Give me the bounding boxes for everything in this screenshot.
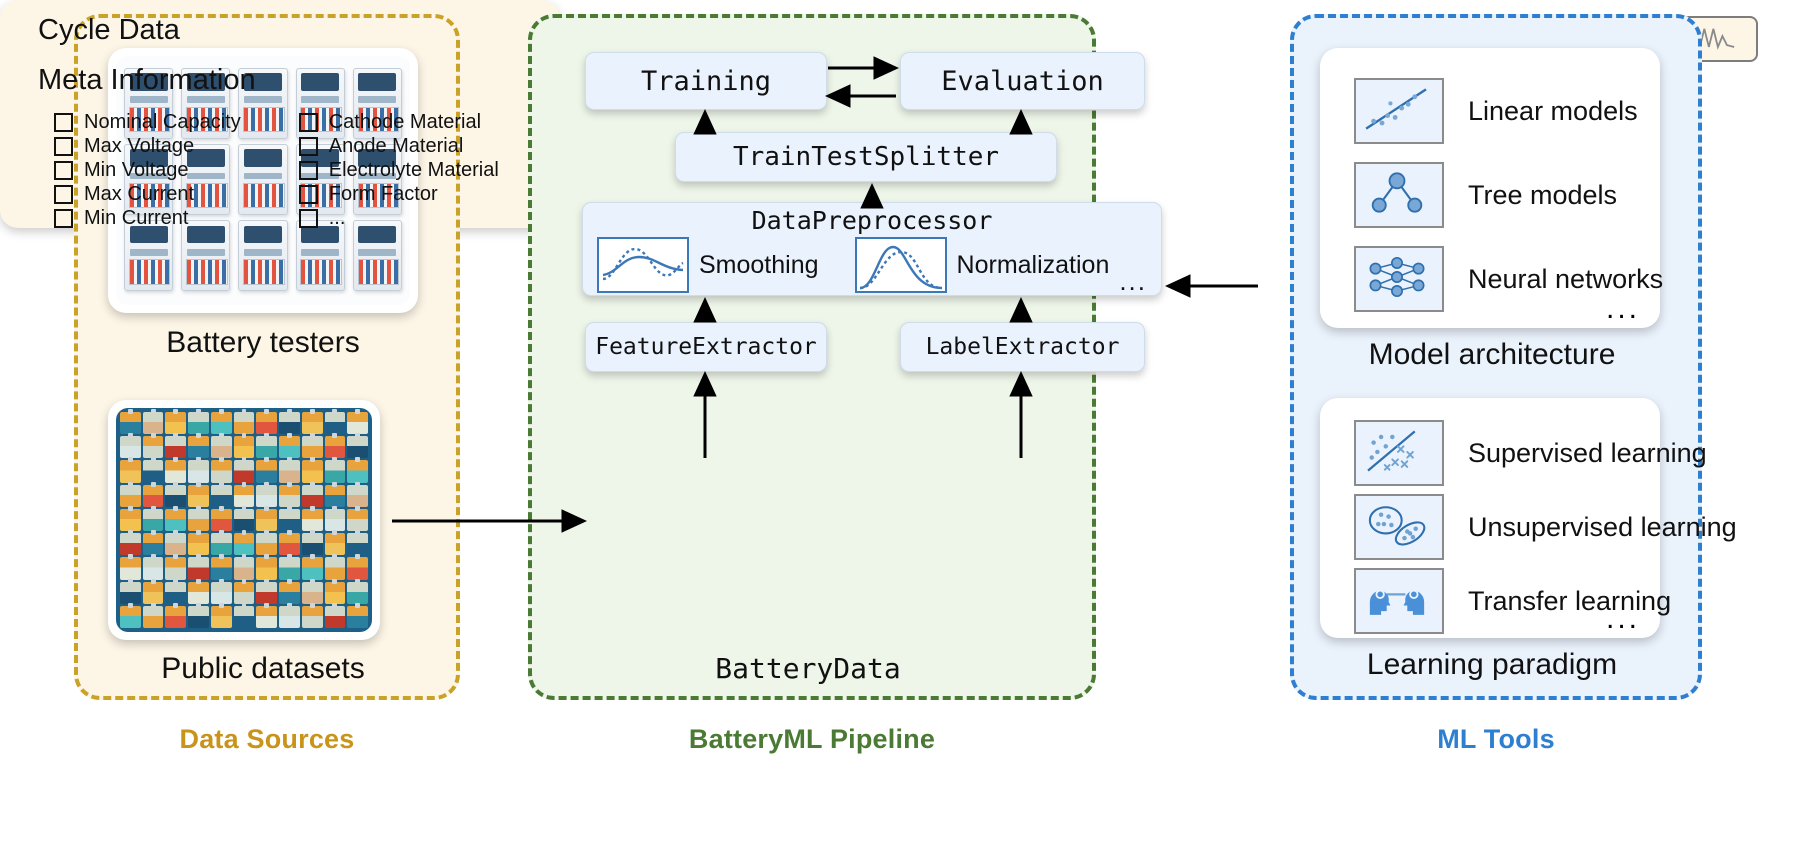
- box-label-extractor[interactable]: LabelExtractor: [900, 322, 1145, 372]
- battery-cell-icon: [279, 485, 300, 507]
- meta-list-left: Nominal CapacityMax VoltageMin VoltageMa…: [54, 112, 241, 229]
- panel-caption-data-sources: Data Sources: [78, 724, 456, 755]
- supervised-scatter-icon: [1354, 420, 1444, 486]
- battery-cell-icon: [279, 436, 300, 458]
- ml-item-label: Supervised learning: [1468, 438, 1707, 469]
- battery-cell-icon: [211, 412, 232, 434]
- battery-cell-icon: [143, 557, 164, 579]
- battery-cell-icon: [347, 436, 368, 458]
- checkbox-square-icon[interactable]: [299, 113, 318, 132]
- battery-cell-icon: [188, 485, 209, 507]
- battery-cell-icon: [279, 412, 300, 434]
- battery-cell-icon: [188, 436, 209, 458]
- card-caption-model-architecture: Model architecture: [1290, 338, 1694, 372]
- battery-cell-icon: [256, 557, 277, 579]
- battery-cell-icon: [234, 509, 255, 531]
- meta-checkbox-label: Max Voltage: [84, 136, 194, 157]
- battery-cell-icon: [188, 582, 209, 604]
- meta-checkbox-label: Min Current: [84, 208, 188, 229]
- battery-cell-icon: [234, 606, 255, 628]
- battery-cell-icon: [165, 582, 186, 604]
- linear-regression-scatter-icon: [1354, 78, 1444, 144]
- battery-cell-icon: [347, 509, 368, 531]
- battery-cell-icon: [256, 582, 277, 604]
- learning-paradigm-more-ellipsis: ...: [1606, 602, 1640, 636]
- battery-cell-icon: [120, 557, 141, 579]
- battery-cell-icon: [256, 509, 277, 531]
- battery-cell-icon: [302, 557, 323, 579]
- battery-cell-icon: [234, 460, 255, 482]
- battery-cell-icon: [234, 485, 255, 507]
- meta-checkbox-label: Electrolyte Material: [329, 160, 499, 181]
- battery-cell-icon: [302, 436, 323, 458]
- cycle-data-title: Cycle Data: [38, 14, 180, 47]
- battery-cell-icon: [120, 436, 141, 458]
- battery-cell-icon: [256, 412, 277, 434]
- ml-item-label: Transfer learning: [1468, 586, 1671, 617]
- battery-cell-icon: [347, 582, 368, 604]
- battery-cell-icon: [120, 533, 141, 555]
- battery-cell-icon: [165, 557, 186, 579]
- battery-cell-icon: [325, 412, 346, 434]
- meta-checkbox-label: Form Factor: [329, 184, 438, 205]
- battery-cell-icon: [120, 509, 141, 531]
- battery-cell-icon: [347, 557, 368, 579]
- battery-cell-icon: [143, 582, 164, 604]
- checkbox-square-icon[interactable]: [299, 137, 318, 156]
- battery-cell-icon: [279, 582, 300, 604]
- checkbox-square-icon[interactable]: [54, 137, 73, 156]
- battery-cell-icon: [211, 485, 232, 507]
- battery-cell-icon: [234, 557, 255, 579]
- checkbox-square-icon[interactable]: [299, 161, 318, 180]
- checkbox-square-icon[interactable]: [54, 113, 73, 132]
- checkbox-square-icon[interactable]: [54, 161, 73, 180]
- checkbox-square-icon[interactable]: [54, 185, 73, 204]
- battery-cell-icon: [211, 533, 232, 555]
- battery-cell-icon: [325, 485, 346, 507]
- card-model-architecture[interactable]: Linear models Tree models: [1320, 48, 1660, 328]
- battery-cell-icon: [120, 582, 141, 604]
- card-caption-battery-data: BatteryData: [528, 652, 1088, 685]
- meta-checkbox-item[interactable]: Min Current: [54, 208, 241, 229]
- ml-item-label: Neural networks: [1468, 264, 1663, 295]
- battery-cell-icon: [188, 412, 209, 434]
- card-caption-public-datasets: Public datasets: [74, 652, 452, 686]
- battery-cell-icon: [188, 533, 209, 555]
- battery-cell-icon: [325, 436, 346, 458]
- battery-cell-icon: [325, 606, 346, 628]
- battery-cell-icon: [302, 509, 323, 531]
- battery-cell-icon: [325, 509, 346, 531]
- battery-cell-icon: [143, 485, 164, 507]
- battery-cell-icon: [347, 412, 368, 434]
- meta-checkbox-item[interactable]: Anode Material: [299, 136, 499, 157]
- card-learning-paradigm[interactable]: Supervised learning Unsupervised learnin…: [1320, 398, 1660, 638]
- battery-cell-icon: [234, 436, 255, 458]
- model-architecture-more-ellipsis: ...: [1606, 292, 1640, 326]
- ml-item-label: Tree models: [1468, 180, 1617, 211]
- battery-cell-icon: [302, 582, 323, 604]
- battery-cell-icon: [256, 460, 277, 482]
- battery-cell-icon: [211, 557, 232, 579]
- battery-cell-icon: [143, 436, 164, 458]
- battery-cell-icon: [279, 557, 300, 579]
- battery-cell-icon: [188, 606, 209, 628]
- meta-information-title: Meta Information: [38, 64, 256, 97]
- meta-checkbox-label: Min Voltage: [84, 160, 189, 181]
- battery-cell-icon: [234, 582, 255, 604]
- battery-cell-icon: [302, 460, 323, 482]
- battery-cell-icon: [188, 460, 209, 482]
- meta-checkbox-item[interactable]: Max Voltage: [54, 136, 241, 157]
- battery-cell-icon: [347, 606, 368, 628]
- meta-checkbox-item[interactable]: Nominal Capacity: [54, 112, 241, 133]
- ml-item-tree-models[interactable]: Tree models: [1354, 162, 1617, 228]
- battery-cell-icon: [302, 533, 323, 555]
- ml-item-supervised-learning[interactable]: Supervised learning: [1354, 420, 1707, 486]
- checkbox-square-icon[interactable]: [54, 209, 73, 228]
- meta-checkbox-item[interactable]: ...: [299, 208, 499, 229]
- battery-cell-icon: [256, 485, 277, 507]
- battery-cell-icon: [347, 485, 368, 507]
- battery-cell-icon: [143, 509, 164, 531]
- card-caption-battery-testers: Battery testers: [74, 326, 452, 360]
- smoothing-curve-chart: [597, 237, 689, 293]
- ml-item-label: Unsupervised learning: [1468, 512, 1737, 543]
- ml-item-linear-models[interactable]: Linear models: [1354, 78, 1638, 144]
- meta-checkbox-label: Anode Material: [329, 136, 464, 157]
- battery-cell-icon: [165, 533, 186, 555]
- preprocessor-op-label-smoothing: Smoothing: [699, 251, 819, 280]
- transfer-heads-icon: [1354, 568, 1444, 634]
- battery-cell-icon: [165, 412, 186, 434]
- battery-cell-icon: [302, 412, 323, 434]
- battery-cell-icon: [256, 533, 277, 555]
- neural-network-icon: [1354, 246, 1444, 312]
- panel-caption-pipeline: BatteryML Pipeline: [532, 724, 1092, 755]
- checkbox-square-icon[interactable]: [299, 209, 318, 228]
- battery-cell-icon: [302, 485, 323, 507]
- battery-cell-icon: [279, 460, 300, 482]
- box-training[interactable]: Training: [585, 52, 827, 110]
- meta-checkbox-label: Cathode Material: [329, 112, 481, 133]
- box-feature-extractor[interactable]: FeatureExtractor: [585, 322, 827, 372]
- card-caption-learning-paradigm: Learning paradigm: [1290, 648, 1694, 682]
- meta-checkbox-item[interactable]: Cathode Material: [299, 112, 499, 133]
- battery-cell-icon: [120, 485, 141, 507]
- battery-cell-icon: [279, 509, 300, 531]
- battery-cell-icon: [165, 485, 186, 507]
- ml-item-label: Linear models: [1468, 96, 1638, 127]
- battery-cell-icon: [211, 509, 232, 531]
- battery-cell-icon: [120, 460, 141, 482]
- checkbox-square-icon[interactable]: [299, 185, 318, 204]
- battery-cell-icon: [143, 460, 164, 482]
- panel-caption-ml-tools: ML Tools: [1294, 724, 1698, 755]
- battery-cell-icon: [302, 606, 323, 628]
- battery-cell-icon: [325, 557, 346, 579]
- meta-checkbox-label: ...: [329, 208, 346, 229]
- card-public-datasets[interactable]: [108, 400, 380, 640]
- battery-cell-icon: [165, 606, 186, 628]
- meta-checkbox-label: Max Current: [84, 184, 194, 205]
- battery-cell-icon: [120, 606, 141, 628]
- meta-checkbox-label: Nominal Capacity: [84, 112, 241, 133]
- battery-cell-icon: [165, 460, 186, 482]
- battery-cell-icon: [188, 509, 209, 531]
- battery-cell-icon: [143, 533, 164, 555]
- battery-cell-icon: [256, 436, 277, 458]
- meta-checkbox-item[interactable]: Electrolyte Material: [299, 160, 499, 181]
- normalization-distribution-chart: [855, 237, 947, 293]
- battery-cell-icon: [325, 582, 346, 604]
- box-evaluation[interactable]: Evaluation: [900, 52, 1145, 110]
- battery-cell-icon: [325, 460, 346, 482]
- decision-tree-icon: [1354, 162, 1444, 228]
- battery-cell-icon: [143, 606, 164, 628]
- clustering-ellipse-icon: [1354, 494, 1444, 560]
- battery-cell-icon: [188, 557, 209, 579]
- battery-cell-icon: [211, 460, 232, 482]
- battery-cell-icon: [234, 533, 255, 555]
- battery-cell-icon: [211, 582, 232, 604]
- preprocessor-more-ellipsis: ...: [1119, 266, 1147, 297]
- public-datasets-image: [116, 408, 372, 632]
- battery-cell-icon: [211, 606, 232, 628]
- battery-cell-icon: [234, 412, 255, 434]
- battery-cell-icon: [211, 436, 232, 458]
- battery-cell-icon: [143, 412, 164, 434]
- battery-cell-icon: [279, 606, 300, 628]
- meta-checkbox-item[interactable]: Max Current: [54, 184, 241, 205]
- meta-checkbox-item[interactable]: Min Voltage: [54, 160, 241, 181]
- battery-cell-icon: [256, 606, 277, 628]
- meta-list-right: Cathode MaterialAnode MaterialElectrolyt…: [299, 112, 499, 229]
- meta-checkbox-item[interactable]: Form Factor: [299, 184, 499, 205]
- battery-cell-icon: [347, 533, 368, 555]
- battery-cell-icon: [165, 509, 186, 531]
- battery-cell-icon: [165, 436, 186, 458]
- battery-cell-icon: [347, 460, 368, 482]
- battery-cell-icon: [279, 533, 300, 555]
- ml-item-unsupervised-learning[interactable]: Unsupervised learning: [1354, 494, 1737, 560]
- battery-cell-icon: [325, 533, 346, 555]
- preprocessor-op-label-normalization: Normalization: [957, 251, 1110, 280]
- battery-cell-icon: [120, 412, 141, 434]
